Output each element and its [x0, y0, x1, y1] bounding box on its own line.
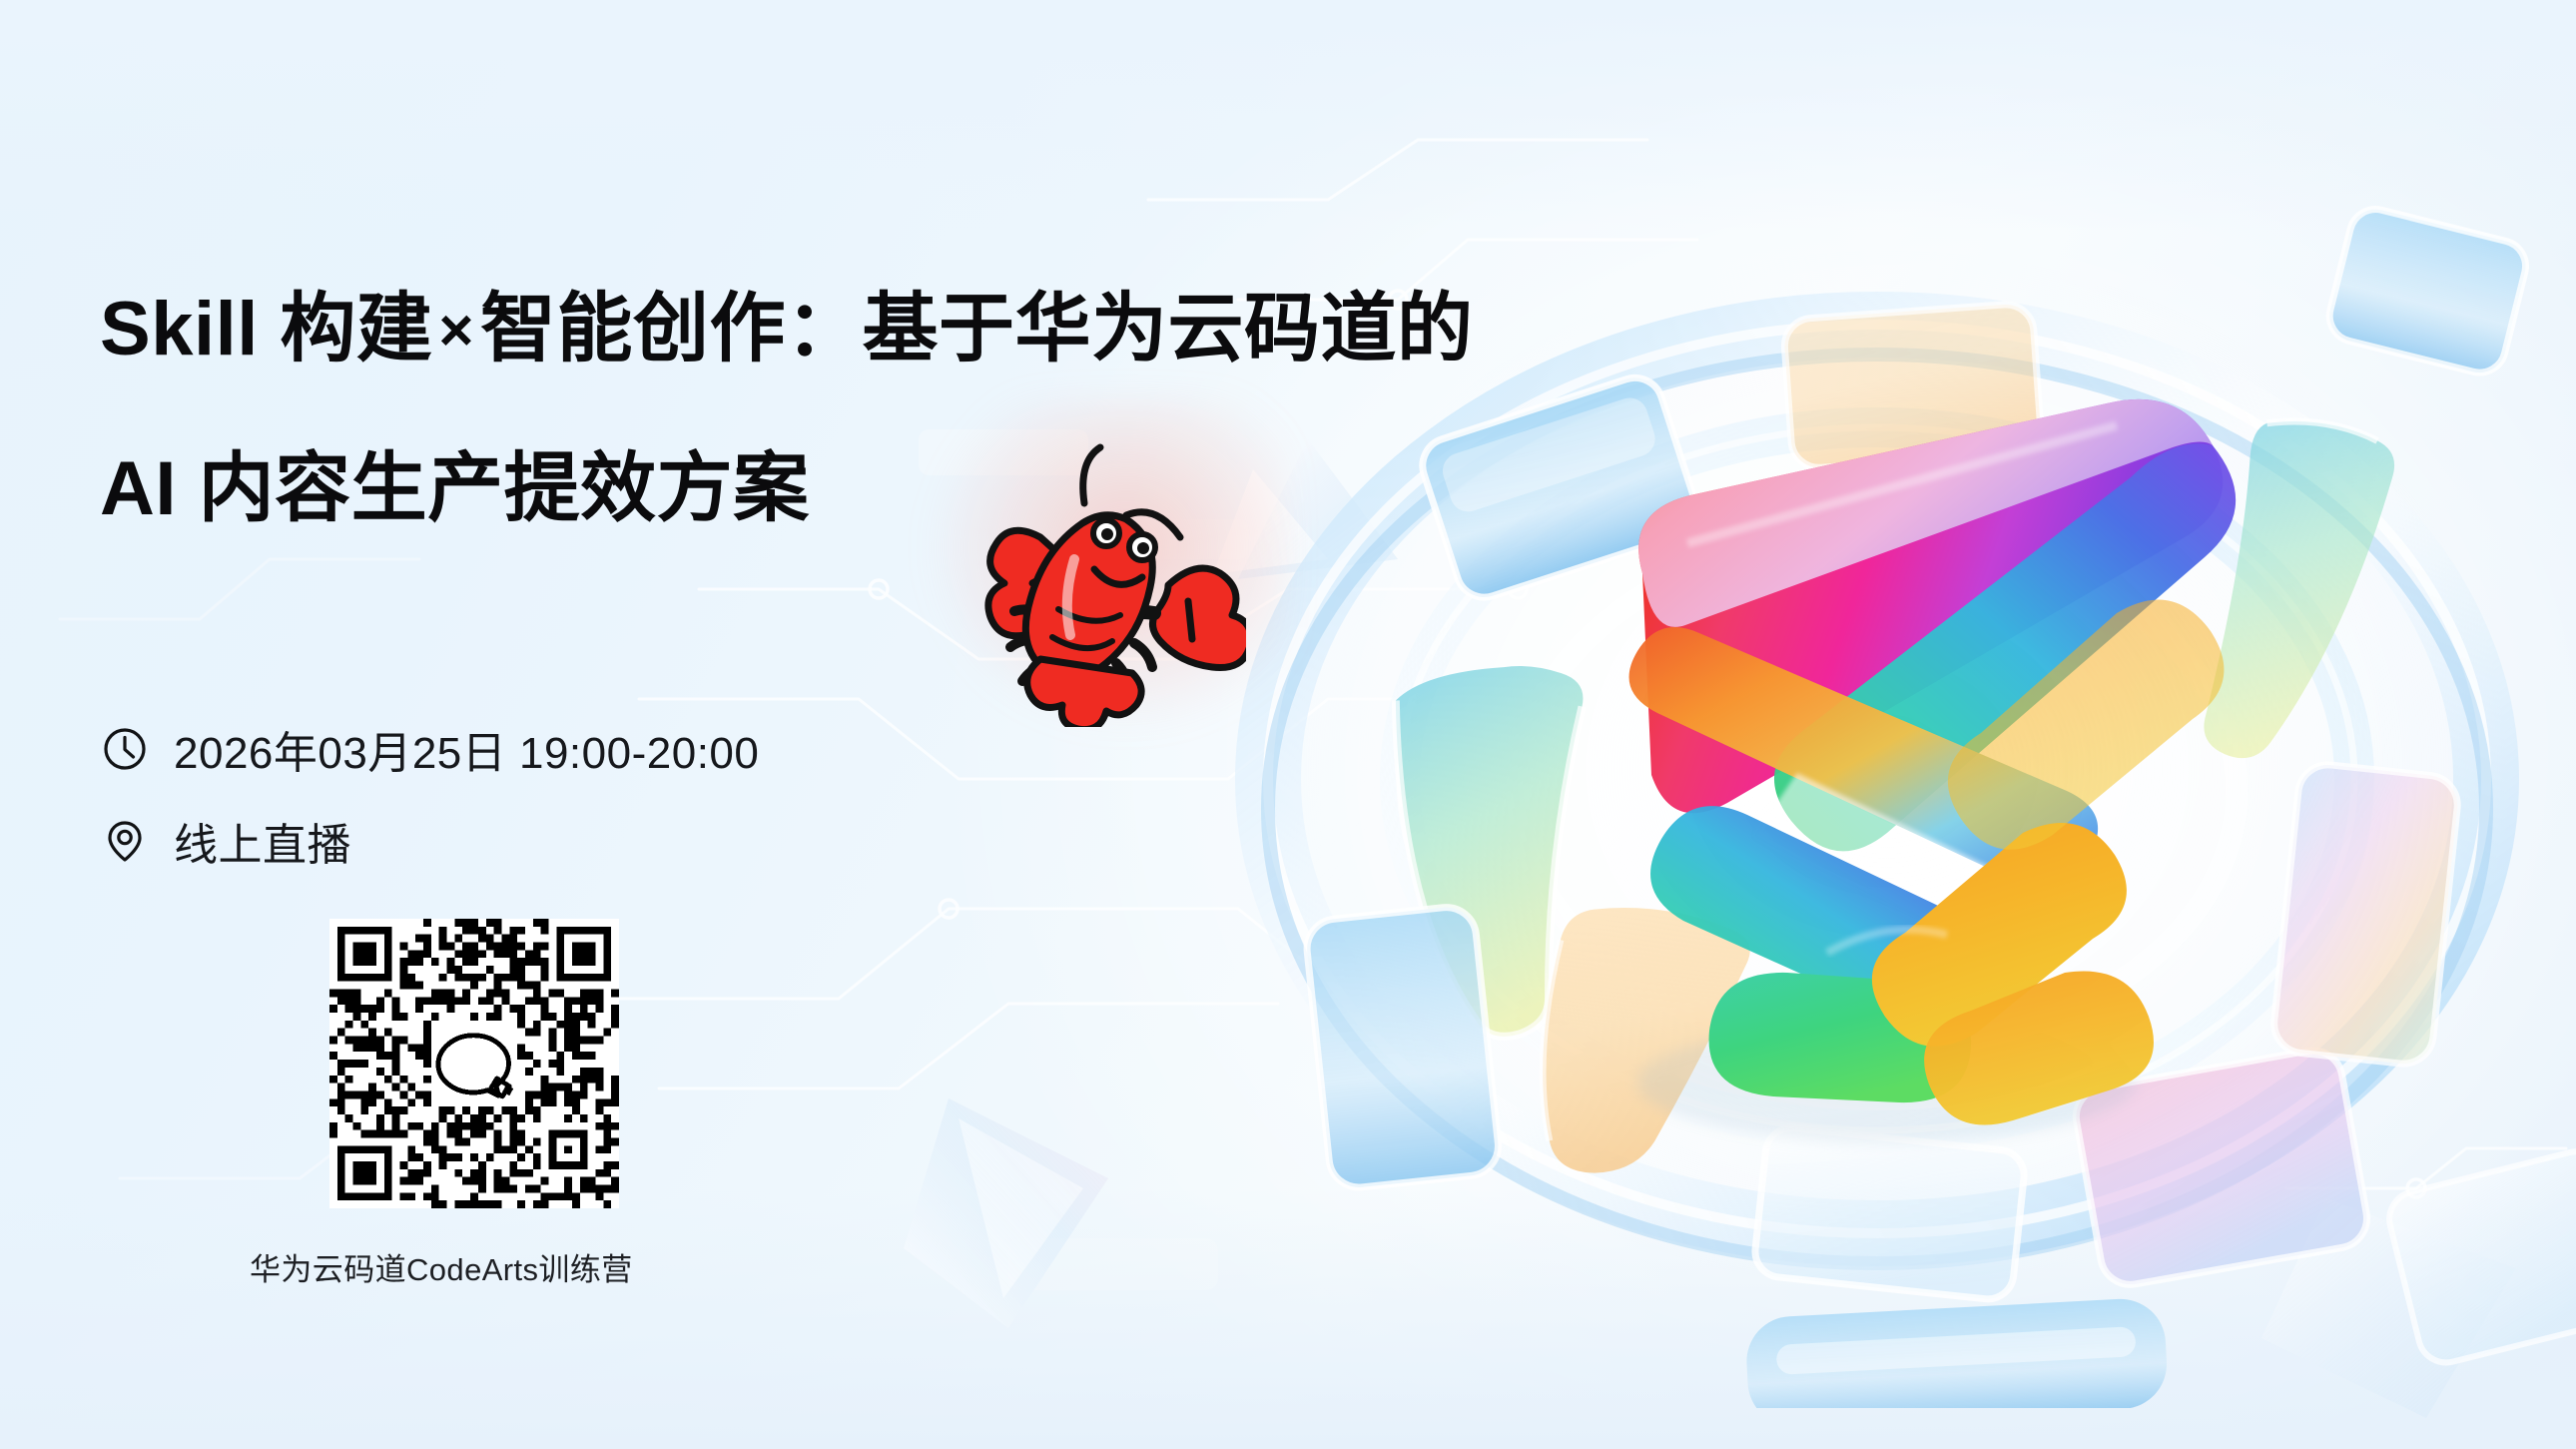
clock-icon	[102, 726, 148, 772]
title-pre: Skill 构建	[100, 287, 432, 371]
qr-code[interactable]	[329, 919, 619, 1208]
content-column: Skill 构建×智能创作：基于华为云码道的 AI 内容生产提效方案 2026年…	[100, 0, 1198, 1449]
page-title-line2: AI 内容生产提效方案	[100, 451, 810, 527]
qr-caption: 华为云码道CodeArts训练营	[230, 1244, 729, 1289]
page-title-line1: Skill 构建×智能创作：基于华为云码道的	[100, 292, 1473, 367]
event-place-row: 线上直播	[102, 809, 351, 873]
location-pin-icon	[102, 818, 148, 864]
title-separator: ×	[432, 297, 480, 363]
qr-block: 华为云码道CodeArts训练营	[230, 919, 729, 1289]
qr-code-modules	[329, 919, 619, 1208]
event-place-text: 线上直播	[174, 809, 351, 873]
wechat-official-account-icon	[438, 1030, 513, 1096]
title-post: 智能创作：基于华为云码道的	[480, 287, 1474, 371]
hero-graphic	[1188, 80, 2576, 1408]
poster-canvas: Skill 构建×智能创作：基于华为云码道的 AI 内容生产提效方案 2026年…	[0, 0, 2576, 1449]
event-time-row: 2026年03月25日 19:00-20:00	[102, 717, 759, 781]
codearts-3d-ribbon-graphic	[1188, 80, 2576, 1408]
event-time-text: 2026年03月25日 19:00-20:00	[174, 717, 759, 781]
